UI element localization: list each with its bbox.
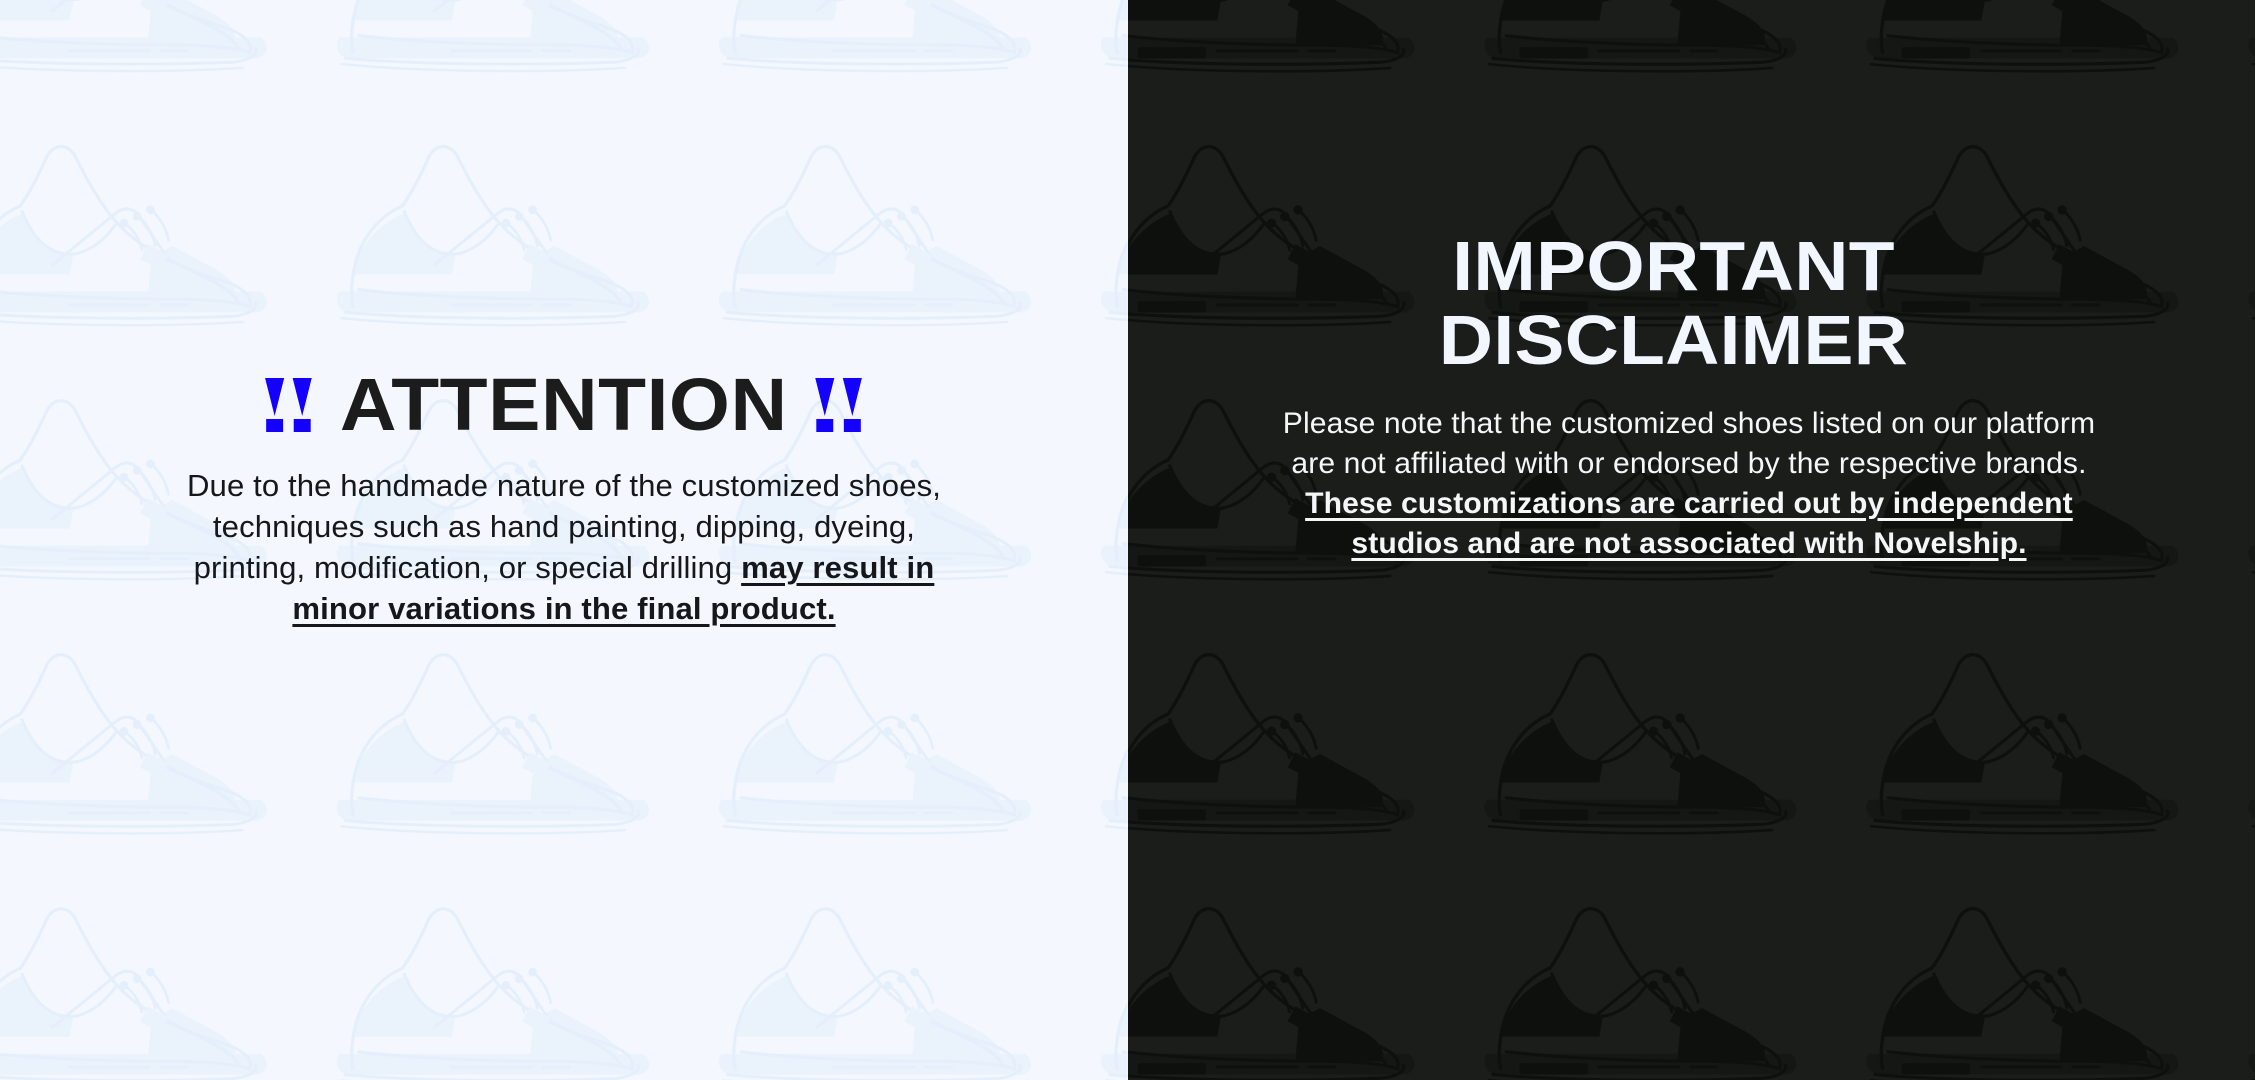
disclaimer-panel: IMPORTANT DISCLAIMER Please note that th…: [1128, 0, 2255, 1080]
disclaimer-heading: IMPORTANT DISCLAIMER: [1128, 230, 2255, 378]
attention-heading: ATTENTION: [0, 368, 1128, 442]
attention-body: Due to the handmade nature of the custom…: [156, 466, 972, 630]
attention-panel: ATTENTION Due to the handmade nature of …: [0, 0, 1128, 1080]
double-exclamation-left-icon: [265, 378, 313, 432]
disclaimer-body-emphasis: These customizations are carried out by …: [1305, 487, 2073, 560]
disclaimer-banner: ATTENTION Due to the handmade nature of …: [0, 0, 2255, 1080]
disclaimer-body-regular: Please note that the customized shoes li…: [1283, 407, 2095, 480]
disclaimer-heading-line-2: DISCLAIMER: [1128, 304, 2255, 378]
disclaimer-heading-line-1: IMPORTANT: [1128, 230, 2255, 304]
double-exclamation-right-icon: [815, 378, 863, 432]
disclaimer-body: Please note that the customized shoes li…: [1273, 404, 2109, 564]
attention-heading-text: ATTENTION: [340, 368, 788, 442]
